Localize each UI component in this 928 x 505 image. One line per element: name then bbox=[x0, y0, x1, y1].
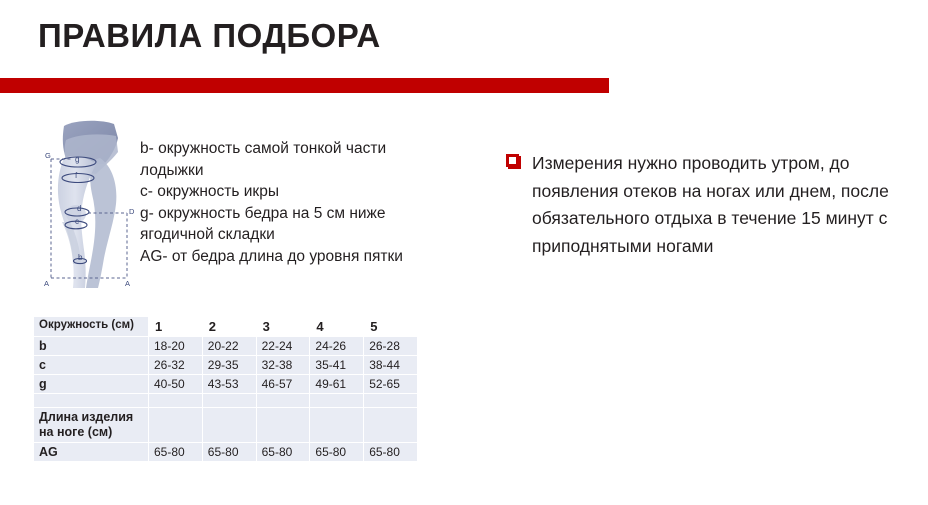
cell-ag-2: 65-80 bbox=[202, 443, 256, 462]
row-label-b: b bbox=[34, 337, 149, 356]
table-row: AG 65-80 65-80 65-80 65-80 65-80 bbox=[34, 443, 418, 462]
cell-g-2: 43-53 bbox=[202, 375, 256, 394]
cell-c-2: 29-35 bbox=[202, 356, 256, 375]
section-header-1 bbox=[149, 408, 203, 443]
cell-g-1: 40-50 bbox=[149, 375, 203, 394]
cell-ag-4: 65-80 bbox=[310, 443, 364, 462]
section-header-3 bbox=[256, 408, 310, 443]
cell-c-4: 35-41 bbox=[310, 356, 364, 375]
spacer-label bbox=[34, 394, 149, 408]
section-header-line1: Длина изделия bbox=[39, 410, 148, 425]
legend-line-ag: AG- от бедра длина до уровня пятки bbox=[140, 246, 440, 268]
cell-g-5: 52-65 bbox=[364, 375, 418, 394]
section-header-label: Длина изделия на ноге (см) bbox=[34, 408, 149, 443]
label-c: c bbox=[75, 217, 79, 226]
row-label-ag: AG bbox=[34, 443, 149, 462]
table-header-col-1: 1 bbox=[149, 317, 203, 337]
cell-b-5: 26-28 bbox=[364, 337, 418, 356]
cell-ag-1: 65-80 bbox=[149, 443, 203, 462]
spacer-2 bbox=[202, 394, 256, 408]
table-section-header-row: Длина изделия на ноге (см) bbox=[34, 408, 418, 443]
cell-g-3: 46-57 bbox=[256, 375, 310, 394]
label-D: D bbox=[129, 207, 135, 216]
spacer-3 bbox=[256, 394, 310, 408]
table-row: g 40-50 43-53 46-57 49-61 52-65 bbox=[34, 375, 418, 394]
section-header-5 bbox=[364, 408, 418, 443]
far-leg bbox=[86, 158, 116, 288]
table-spacer-row bbox=[34, 394, 418, 408]
spacer-4 bbox=[310, 394, 364, 408]
legend-line-b: b- окружность самой тонкой части лодыжки bbox=[140, 138, 440, 181]
red-square-bullet-icon bbox=[506, 154, 519, 167]
leg-measurement-diagram: G g f d D c b A A bbox=[40, 118, 140, 294]
legend-line-g: g- окружность бедра на 5 см ниже ягодичн… bbox=[140, 203, 440, 246]
row-label-c: c bbox=[34, 356, 149, 375]
cell-g-4: 49-61 bbox=[310, 375, 364, 394]
table-header-col-2: 2 bbox=[202, 317, 256, 337]
page-title: ПРАВИЛА ПОДБОРА bbox=[38, 17, 381, 55]
spacer-5 bbox=[364, 394, 418, 408]
section-header-line2: на ноге (см) bbox=[39, 425, 148, 440]
cell-b-3: 22-24 bbox=[256, 337, 310, 356]
label-g: g bbox=[75, 155, 79, 164]
label-A-right: A bbox=[125, 279, 130, 288]
section-header-4 bbox=[310, 408, 364, 443]
title-underline-bar bbox=[0, 78, 609, 93]
slide-canvas: ПРАВИЛА ПОДБОРА bbox=[0, 0, 928, 505]
label-b: b bbox=[78, 253, 83, 262]
cell-c-5: 38-44 bbox=[364, 356, 418, 375]
cell-b-4: 24-26 bbox=[310, 337, 364, 356]
row-label-g: g bbox=[34, 375, 149, 394]
section-header-2 bbox=[202, 408, 256, 443]
spacer-1 bbox=[149, 394, 203, 408]
label-G: G bbox=[45, 151, 51, 160]
table-header-row: Окружность (см) 1 2 3 4 5 bbox=[34, 317, 418, 337]
legend-line-c: c- окружность икры bbox=[140, 181, 440, 203]
table-row: c 26-32 29-35 32-38 35-41 38-44 bbox=[34, 356, 418, 375]
cell-c-3: 32-38 bbox=[256, 356, 310, 375]
cell-b-2: 20-22 bbox=[202, 337, 256, 356]
table-row: b 18-20 20-22 22-24 24-26 26-28 bbox=[34, 337, 418, 356]
table-header-col-3: 3 bbox=[256, 317, 310, 337]
label-A-left: A bbox=[44, 279, 49, 288]
measurement-legend: b- окружность самой тонкой части лодыжки… bbox=[140, 138, 440, 267]
table-header-col-5: 5 bbox=[364, 317, 418, 337]
label-d: d bbox=[77, 204, 81, 213]
cell-ag-5: 65-80 bbox=[364, 443, 418, 462]
note-text: Измерения нужно проводить утром, до появ… bbox=[532, 150, 910, 260]
cell-ag-3: 65-80 bbox=[256, 443, 310, 462]
cell-c-1: 26-32 bbox=[149, 356, 203, 375]
table-header-label: Окружность (см) bbox=[34, 317, 149, 337]
table-header-col-4: 4 bbox=[310, 317, 364, 337]
cell-b-1: 18-20 bbox=[149, 337, 203, 356]
size-table: Окружность (см) 1 2 3 4 5 b 18-20 20-22 … bbox=[33, 316, 418, 462]
measurement-note: Измерения нужно проводить утром, до появ… bbox=[506, 150, 910, 260]
